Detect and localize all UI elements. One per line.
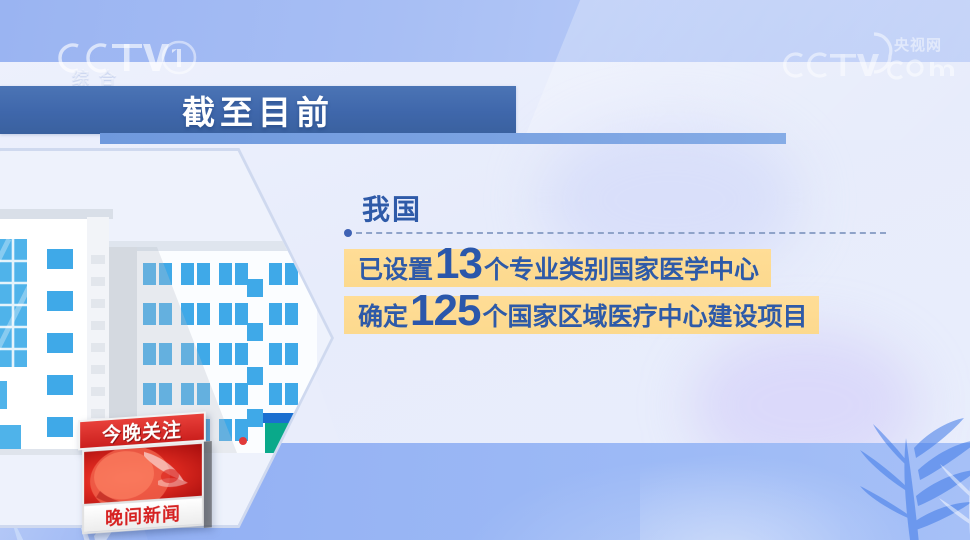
stat-number-1: 13: [433, 245, 484, 283]
program-badge-top-label: 今晚关注: [102, 415, 182, 448]
divider-line: [356, 232, 886, 234]
statistics-text-block: 我国 已设置 13 个专业类别国家医学中心 确定 125 个国家区域医疗中心建设…: [344, 192, 914, 334]
lead-label: 我国: [362, 192, 914, 228]
divider-dot: [344, 229, 352, 237]
page-title: 截至目前: [0, 86, 516, 134]
program-badge-shadow: [204, 441, 212, 528]
stat-suffix-1: 个专业类别国家医学中心: [484, 250, 759, 286]
svg-text:央视网: 央视网: [894, 36, 942, 54]
cctv-com-watermark: 央视网: [778, 30, 964, 82]
title-accent-bar: [100, 133, 786, 144]
leaf-decoration-icon: [680, 404, 970, 540]
stat-item-1: 已设置 13 个专业类别国家医学中心: [344, 249, 771, 287]
stat-prefix-1: 已设置: [358, 250, 433, 286]
program-badge: 今晚关注 晚间新闻: [72, 411, 212, 539]
broadcast-graphic-stage: 综合 央视网 截至目前: [0, 0, 970, 540]
stat-prefix-2: 确定: [358, 297, 408, 333]
program-badge-bottom-label: 晚间新闻: [105, 499, 181, 530]
stat-number-2: 125: [408, 292, 482, 330]
stat-item-2: 确定 125 个国家区域医疗中心建设项目: [344, 296, 819, 334]
globe-icon: [84, 444, 202, 504]
divider-dashed: [344, 226, 914, 240]
stat-suffix-2: 个国家区域医疗中心建设项目: [482, 297, 807, 333]
